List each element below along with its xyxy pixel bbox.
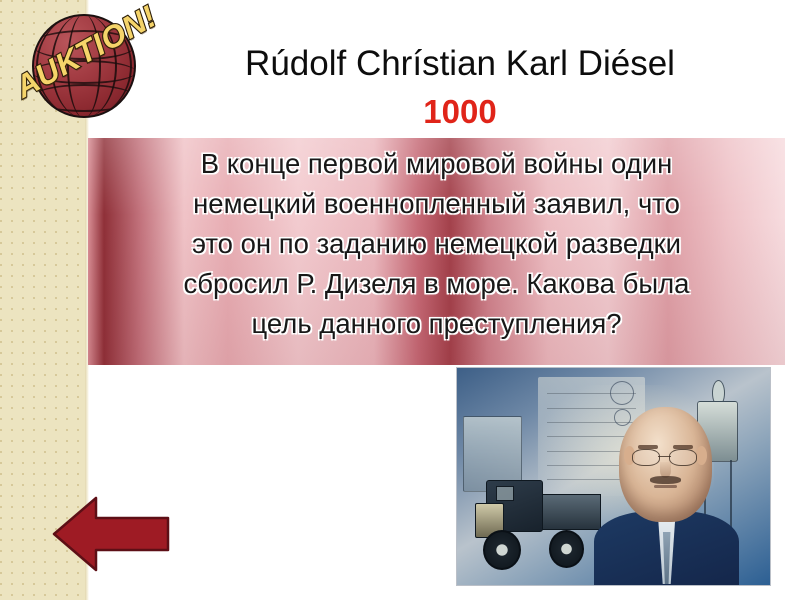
portrait-ear bbox=[696, 446, 707, 465]
portrait-mustache bbox=[650, 476, 681, 484]
slide-canvas: AUKTION! Rúdolf Chrístian Karl Diésel 10… bbox=[0, 0, 800, 600]
truck-bed bbox=[538, 494, 600, 530]
glasses-lens bbox=[669, 449, 697, 466]
question-line: цель данного преступления? bbox=[88, 304, 785, 344]
question-text: В конце первой мировой войны один немецк… bbox=[88, 144, 785, 344]
question-line: В конце первой мировой войны один bbox=[88, 144, 785, 184]
question-line: немецкий военнопленный заявил, что bbox=[88, 184, 785, 224]
question-banner: В конце первой мировой войны один немецк… bbox=[88, 138, 785, 365]
back-arrow-icon bbox=[52, 492, 170, 576]
truck-window bbox=[496, 486, 515, 501]
question-line: это он по заданию немецкой разведки bbox=[88, 224, 785, 264]
vintage-truck bbox=[473, 477, 604, 572]
truck-wheel bbox=[549, 530, 585, 568]
glasses-bridge bbox=[658, 456, 671, 458]
truck-wheel bbox=[483, 530, 521, 570]
back-arrow[interactable] bbox=[52, 492, 170, 576]
question-line: сбросил Р. Дизеля в море. Какова была bbox=[88, 264, 785, 304]
glasses-lens bbox=[632, 449, 660, 466]
score-value: 1000 bbox=[150, 93, 770, 131]
portrait-mouth bbox=[654, 485, 676, 488]
diagram-circle bbox=[610, 381, 634, 405]
portrait-head bbox=[619, 407, 712, 522]
page-title: Rúdolf Chrístian Karl Diésel bbox=[150, 44, 770, 84]
diesel-portrait-image bbox=[457, 368, 770, 585]
diesel-portrait-face bbox=[604, 407, 729, 581]
auction-badge[interactable]: AUKTION! bbox=[10, 6, 160, 128]
